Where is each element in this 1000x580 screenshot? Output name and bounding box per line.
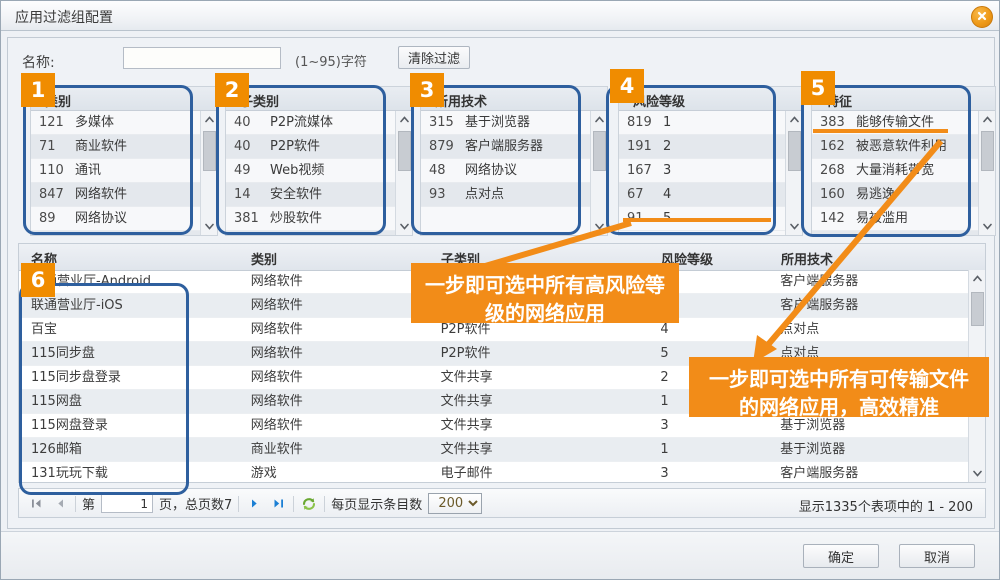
selector-item-label: 通讯: [75, 159, 101, 182]
selector-item-label: 安全软件: [270, 183, 322, 206]
table-cell: 网络软件: [239, 390, 429, 413]
selector-item[interactable]: 48网络协议: [421, 159, 590, 183]
selector-panel-4: 风险等级819119121673674915: [618, 86, 803, 236]
selector-item-label: 4: [663, 183, 671, 206]
selector-item-count: 93: [421, 183, 465, 206]
selector-item-count: 161: [812, 231, 856, 235]
table-cell: 5: [648, 342, 768, 365]
selector-item-count: 89: [31, 207, 75, 230]
table-row[interactable]: 百宝网络软件P2P软件4点对点: [19, 318, 968, 342]
selector-header-5: 特征: [812, 87, 995, 111]
selector-item[interactable]: 1673: [619, 159, 785, 183]
selector-item-count: 381: [226, 207, 270, 230]
next-page-icon[interactable]: [245, 494, 263, 514]
table-row[interactable]: 126邮箱商业软件文件共享1基于浏览器: [19, 438, 968, 462]
pager-divider-2: [238, 496, 239, 512]
scroll-up-icon[interactable]: [201, 111, 218, 128]
selector-item-label: 网络协议: [465, 159, 517, 182]
selector-item-label: 炒股软件: [270, 207, 322, 230]
table-row[interactable]: 联通营业厅-iOS网络软件即时通讯1客户端服务器: [19, 294, 968, 318]
table-cell: 文件共享: [429, 438, 649, 461]
scroll-up-icon[interactable]: [786, 111, 803, 128]
scroll-thumb[interactable]: [788, 131, 801, 171]
name-label: 名称:: [22, 52, 55, 72]
table-cell: 网络软件: [239, 270, 429, 293]
refresh-icon[interactable]: [300, 494, 318, 514]
table-header: 名称类别子类别风险等级所用技术: [19, 244, 985, 271]
table-cell: 客户端服务器: [768, 294, 968, 317]
page-number-input[interactable]: [101, 494, 153, 513]
table-body[interactable]: 联通营业厅-Android网络软件即时通讯1客户端服务器联通营业厅-iOS网络软…: [19, 270, 968, 482]
cancel-button[interactable]: 取消: [899, 544, 975, 568]
selector-header-3: 所用技术: [421, 87, 607, 111]
table-column-header[interactable]: 类别: [239, 244, 429, 270]
selector-item-label: 大型多人在线游戏: [270, 231, 374, 235]
scroll-thumb[interactable]: [203, 131, 216, 171]
per-page-select[interactable]: 200: [428, 493, 482, 514]
table-cell: 游戏: [239, 462, 429, 482]
scroll-up-icon[interactable]: [591, 111, 608, 128]
table-row[interactable]: 115网盘网络软件文件共享1基于浏览器: [19, 390, 968, 414]
table-cell: 3: [648, 462, 768, 482]
table-scroll-thumb[interactable]: [971, 292, 984, 326]
selector-item-count: 71: [31, 135, 75, 158]
app-window: 应用过滤组配置 名称: (1~95)字符 清除过滤 类别121多媒体71商业软件…: [0, 0, 1000, 580]
selector-item-count: 110: [31, 159, 75, 182]
selector-item-label: 被恶意软件利用: [856, 135, 947, 158]
selector-item-label: 1: [663, 111, 671, 134]
per-page-label: 每页显示条目数: [331, 494, 422, 513]
scroll-up-icon[interactable]: [979, 111, 996, 128]
selector-item[interactable]: 71商业软件: [31, 135, 200, 159]
selector-item-count: 49: [226, 159, 270, 182]
table-cell: 115同步盘: [19, 342, 239, 365]
title-bar: 应用过滤组配置: [1, 1, 1000, 31]
selector-item[interactable]: 162被恶意软件利用: [812, 135, 978, 159]
selector-panel-1: 类别121多媒体71商业软件110通讯847网络软件89网络协议97游戏: [30, 86, 218, 236]
table-cell: 百宝: [19, 318, 239, 341]
dialog-footer: 确定 取消: [1, 531, 1000, 580]
selector-item[interactable]: 40P2P流媒体: [226, 111, 395, 135]
selector-item-label: 网络协议: [75, 207, 127, 230]
selector-rows-4[interactable]: 819119121673674915: [619, 111, 785, 235]
selector-item[interactable]: 69大型多人在线游戏: [226, 231, 395, 235]
selector-item-label: 易被滥用: [856, 207, 908, 230]
selector-item-count: 142: [812, 207, 856, 230]
table-column-header[interactable]: 所用技术: [769, 244, 969, 270]
table-cell: 网络软件: [239, 414, 429, 437]
ok-button[interactable]: 确定: [803, 544, 879, 568]
table-cell: 点对点: [768, 342, 968, 365]
scroll-down-icon[interactable]: [591, 218, 608, 235]
selector-item[interactable]: 40P2P软件: [226, 135, 395, 159]
table-cell: P2P软件: [429, 342, 649, 365]
selector-item[interactable]: 93点对点: [421, 183, 590, 207]
table-cell: 即时通讯: [429, 270, 649, 293]
selector-item-label: 2: [663, 135, 671, 158]
pagination-controls: 第 页，总页数7: [27, 493, 482, 514]
selector-rows-3[interactable]: 315基于浏览器879客户端服务器48网络协议93点对点: [421, 111, 590, 235]
table-cell: 1: [648, 270, 768, 293]
table-cell: 电子邮件: [429, 462, 649, 482]
selector-item-label: 3: [663, 159, 671, 182]
table-cell: 网络软件: [239, 366, 429, 389]
selector-item-label: 大量消耗带宽: [856, 159, 934, 182]
selector-rows-2[interactable]: 40P2P流媒体40P2P软件49Web视频14安全软件381炒股软件69大型多…: [226, 111, 395, 235]
table-scroll-up-icon[interactable]: [969, 270, 986, 287]
selector-rows-5[interactable]: 383能够传输文件162被恶意软件利用268大量消耗带宽160易逃逸142易被滥…: [812, 111, 978, 235]
table-cell: 基于浏览器: [768, 390, 968, 413]
selector-item[interactable]: 847网络软件: [31, 183, 200, 207]
selector-item[interactable]: 97游戏: [31, 231, 200, 235]
selector-item[interactable]: 121多媒体: [31, 111, 200, 135]
selector-item-count: 191: [619, 135, 663, 158]
clear-filter-button[interactable]: 清除过滤: [398, 46, 470, 69]
selector-item-count: 879: [421, 135, 465, 158]
table-cell: 联通营业厅-iOS: [19, 294, 239, 317]
name-row: 名称: (1~95)字符 清除过滤: [18, 46, 978, 76]
pager-divider-1: [75, 496, 76, 512]
table-cell: P2P软件: [429, 318, 649, 341]
first-page-icon[interactable]: [27, 494, 45, 514]
selector-header-2: 子类别: [226, 87, 412, 111]
table-column-header[interactable]: 子类别: [429, 244, 649, 270]
name-input[interactable]: [123, 47, 281, 69]
char-hint: (1~95)字符: [295, 51, 367, 70]
table-cell: 文件共享: [429, 414, 649, 437]
table-cell: 1: [648, 390, 768, 413]
table-scroll-down-icon[interactable]: [969, 465, 986, 482]
selector-item-label: Web视频: [270, 159, 324, 182]
selector-scrollbar-1[interactable]: [200, 111, 217, 235]
selector-item-count: 121: [31, 111, 75, 134]
selector-item-label: 基于浏览器: [465, 111, 530, 134]
selector-item[interactable]: 1912: [619, 135, 785, 159]
selector-scrollbar-3[interactable]: [590, 111, 607, 235]
selector-item-label: 点对点: [465, 183, 504, 206]
selector-scrollbar-4[interactable]: [785, 111, 802, 235]
table-cell: 网络软件: [239, 318, 429, 341]
selector-item-count: 162: [812, 135, 856, 158]
table-cell: 基于浏览器: [768, 366, 968, 389]
table-row[interactable]: 115同步盘登录网络软件文件共享2基于浏览器: [19, 366, 968, 390]
table-cell: 文件共享: [429, 366, 649, 389]
table-row[interactable]: 131玩玩下载游戏电子邮件3客户端服务器: [19, 462, 968, 482]
selector-rows-1[interactable]: 121多媒体71商业软件110通讯847网络软件89网络协议97游戏: [31, 111, 200, 235]
selector-item[interactable]: 383能够传输文件: [812, 111, 978, 135]
scroll-down-icon[interactable]: [786, 218, 803, 235]
applications-table: 名称类别子类别风险等级所用技术 联通营业厅-Android网络软件即时通讯1客户…: [18, 243, 986, 483]
table-cell: 126邮箱: [19, 438, 239, 461]
selector-strip: 类别121多媒体71商业软件110通讯847网络软件89网络协议97游戏子类别4…: [18, 86, 986, 236]
selector-item-label: P2P软件: [270, 135, 320, 158]
selector-item-count: 67: [619, 183, 663, 206]
selector-item-label: 易逃逸: [856, 183, 895, 206]
selector-item[interactable]: 142易被滥用: [812, 207, 978, 231]
table-cell: 点对点: [768, 318, 968, 341]
selector-item-label: 游戏: [75, 231, 101, 235]
table-cell: 3: [648, 414, 768, 437]
close-icon[interactable]: [971, 6, 993, 28]
selector-header-4: 风险等级: [619, 87, 802, 111]
selector-item-count: 167: [619, 159, 663, 182]
table-cell: 文件共享: [429, 390, 649, 413]
table-scrollbar[interactable]: [968, 270, 985, 482]
selector-header-1: 类别: [31, 87, 217, 111]
table-cell: 2: [648, 366, 768, 389]
selector-item-count: 69: [226, 231, 270, 235]
table-cell: 基于浏览器: [768, 414, 968, 437]
page-prefix-label: 第: [82, 494, 95, 513]
table-cell: 1: [648, 438, 768, 461]
table-row[interactable]: 115网盘登录网络软件文件共享3基于浏览器: [19, 414, 968, 438]
selector-item-count: 160: [812, 183, 856, 206]
selector-item-label: 能够传输文件: [856, 111, 934, 134]
selector-item[interactable]: 381炒股软件: [226, 207, 395, 231]
table-cell: 4: [648, 318, 768, 341]
selector-item-label: 网络软件: [75, 183, 127, 206]
table-cell: 客户端服务器: [768, 270, 968, 293]
selector-item-count: 383: [812, 111, 856, 134]
scroll-thumb[interactable]: [398, 131, 411, 171]
pagination-bar: 第 页，总页数7: [18, 488, 986, 518]
selector-item-count: 14: [226, 183, 270, 206]
selector-item-count: 40: [226, 135, 270, 158]
selector-item[interactable]: 268大量消耗带宽: [812, 159, 978, 183]
selector-item-count: 91: [619, 207, 663, 230]
selector-item-count: 268: [812, 159, 856, 182]
pager-divider-4: [324, 496, 325, 512]
selector-item-label: 商业软件: [75, 135, 127, 158]
table-cell: 115网盘登录: [19, 414, 239, 437]
selector-item[interactable]: 89网络协议: [31, 207, 200, 231]
table-cell: 网络软件: [239, 294, 429, 317]
selector-item-label: 5: [663, 207, 671, 230]
last-page-icon[interactable]: [269, 494, 287, 514]
page-suffix-label: 页，总页数7: [159, 494, 232, 513]
selector-item-label: 多媒体: [75, 111, 114, 134]
close-glyph: [977, 11, 987, 21]
scroll-down-icon[interactable]: [979, 218, 996, 235]
table-cell: 115同步盘登录: [19, 366, 239, 389]
selector-item[interactable]: 14安全软件: [226, 183, 395, 207]
table-column-header[interactable]: 风险等级: [649, 244, 769, 270]
selector-item-label: 客户端服务器: [465, 135, 543, 158]
selector-item-count: 847: [31, 183, 75, 206]
selector-item[interactable]: 160易逃逸: [812, 183, 978, 207]
scroll-down-icon[interactable]: [201, 218, 218, 235]
table-cell: 基于浏览器: [768, 438, 968, 461]
selector-item[interactable]: 49Web视频: [226, 159, 395, 183]
table-cell: 商业软件: [239, 438, 429, 461]
selector-item-count: 97: [31, 231, 75, 235]
selector-item[interactable]: 879客户端服务器: [421, 135, 590, 159]
table-cell: 联通营业厅-Android: [19, 270, 239, 293]
window-title: 应用过滤组配置: [15, 7, 113, 27]
scroll-thumb[interactable]: [593, 131, 606, 171]
selector-item-count: 819: [619, 111, 663, 134]
table-cell: 网络软件: [239, 342, 429, 365]
pager-divider-3: [293, 496, 294, 512]
selector-item[interactable]: 161被其他应用使用: [812, 231, 978, 235]
selector-panel-3: 所用技术315基于浏览器879客户端服务器48网络协议93点对点: [420, 86, 608, 236]
selector-item[interactable]: 915: [619, 207, 785, 231]
table-row[interactable]: 联通营业厅-Android网络软件即时通讯1客户端服务器: [19, 270, 968, 294]
selector-item-label: P2P流媒体: [270, 111, 333, 134]
table-cell: 即时通讯: [429, 294, 649, 317]
prev-page-icon[interactable]: [51, 494, 69, 514]
table-cell: 1: [648, 294, 768, 317]
selector-item[interactable]: 8191: [619, 111, 785, 135]
table-cell: 131玩玩下载: [19, 462, 239, 482]
selector-scrollbar-5[interactable]: [978, 111, 995, 235]
dialog-content: 名称: (1~95)字符 清除过滤 类别121多媒体71商业软件110通讯847…: [7, 37, 995, 529]
selector-item-label: 被其他应用使用: [856, 231, 947, 235]
selector-item-count: 40: [226, 111, 270, 134]
selector-item[interactable]: 315基于浏览器: [421, 111, 590, 135]
table-column-header[interactable]: 名称: [19, 244, 239, 270]
selector-panel-2: 子类别40P2P流媒体40P2P软件49Web视频14安全软件381炒股软件69…: [225, 86, 413, 236]
selector-item[interactable]: 674: [619, 183, 785, 207]
selector-item-count: 315: [421, 111, 465, 134]
selector-panel-5: 特征383能够传输文件162被恶意软件利用268大量消耗带宽160易逃逸142易…: [811, 86, 996, 236]
selector-scrollbar-2[interactable]: [395, 111, 412, 235]
table-cell: 115网盘: [19, 390, 239, 413]
scroll-down-icon[interactable]: [396, 218, 413, 235]
scroll-thumb[interactable]: [981, 131, 994, 171]
table-cell: 客户端服务器: [768, 462, 968, 482]
scroll-up-icon[interactable]: [396, 111, 413, 128]
table-row[interactable]: 115同步盘网络软件P2P软件5点对点: [19, 342, 968, 366]
selector-item-count: 48: [421, 159, 465, 182]
selector-item[interactable]: 110通讯: [31, 159, 200, 183]
pagination-status: 显示1335个表项中的 1 - 200: [799, 496, 973, 515]
